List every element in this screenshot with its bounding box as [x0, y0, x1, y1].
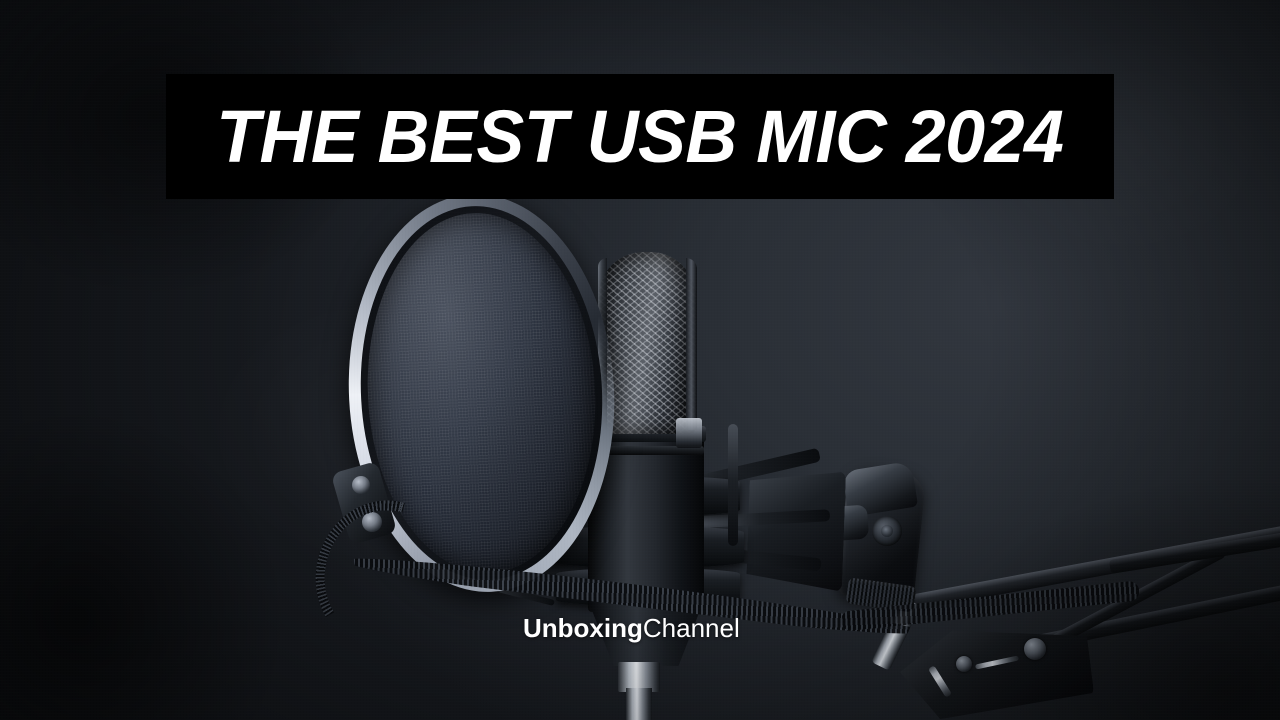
watermark-regular-part: Channel [643, 613, 740, 643]
title-banner: THE BEST USB MIC 2024 [166, 74, 1114, 199]
watermark-bold-part: Unboxing [523, 613, 643, 643]
channel-watermark: UnboxingChannel [523, 615, 740, 641]
thumbnail-canvas: THE BEST USB MIC 2024 UnboxingChannel [0, 0, 1280, 720]
title-text: THE BEST USB MIC 2024 [216, 100, 1063, 174]
